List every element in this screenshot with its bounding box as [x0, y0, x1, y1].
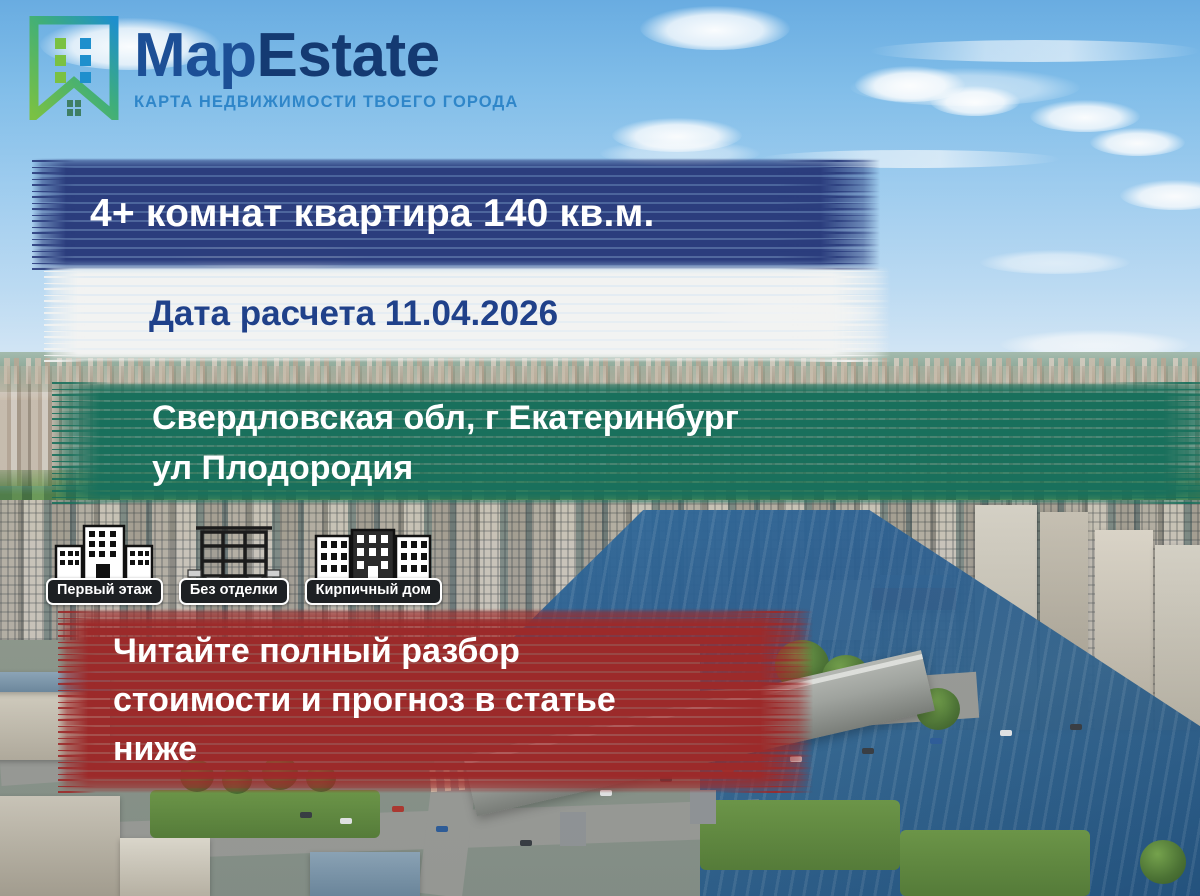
badge-brick-house[interactable]: Кирпичный дом	[305, 522, 442, 605]
car	[1070, 724, 1082, 730]
badge-label: Без отделки	[179, 578, 289, 605]
unfinished-construction-icon	[186, 522, 282, 584]
bridge-pier	[690, 790, 716, 824]
cta-line-2: стоимости и прогноз в статье	[113, 677, 813, 724]
cta-line-3: ниже	[113, 726, 813, 773]
car	[340, 818, 352, 824]
car	[862, 748, 874, 754]
address-line-street: ул Плодородия	[152, 446, 1200, 490]
kiosk	[310, 852, 420, 896]
feature-badges: Первый этаж Без отделки	[46, 522, 442, 605]
brand-wordmark: MapEstate	[134, 25, 518, 87]
car	[1000, 730, 1012, 736]
city-building	[0, 796, 120, 896]
car	[930, 738, 942, 744]
car	[436, 826, 448, 832]
lawn	[150, 790, 380, 838]
brand-tagline: КАРТА НЕДВИЖИМОСТИ ТВОЕГО ГОРОДА	[134, 94, 518, 111]
lawn	[900, 830, 1090, 896]
badge-no-finishing[interactable]: Без отделки	[179, 522, 289, 605]
title-banner: 4+ комнат квартира 140 кв.м.	[32, 158, 880, 270]
badge-label: Кирпичный дом	[305, 578, 442, 605]
poster-canvas: MapEstate КАРТА НЕДВИЖИМОСТИ ТВОЕГО ГОРО…	[0, 0, 1200, 896]
date-banner: Дата расчета 11.04.2026	[44, 266, 891, 362]
car	[300, 812, 312, 818]
address-line-region-city: Свердловская обл, г Екатеринбург	[152, 396, 1200, 440]
cta-banner[interactable]: Читайте полный разбор стоимости и прогно…	[58, 608, 813, 793]
brand-name-map: Map	[134, 21, 257, 90]
brand-name-estate: Estate	[257, 21, 440, 90]
bridge-pier	[560, 812, 586, 846]
address-banner: Свердловская обл, г Екатеринбург ул Плод…	[52, 382, 1200, 504]
car	[392, 806, 404, 812]
brand-wordmark-block: MapEstate КАРТА НЕДВИЖИМОСТИ ТВОЕГО ГОРО…	[134, 25, 518, 111]
tree-icon	[1140, 840, 1186, 884]
calculation-date-text: Дата расчета 11.04.2026	[149, 294, 891, 334]
cta-line-1: Читайте полный разбор	[113, 628, 813, 675]
badge-first-floor[interactable]: Первый этаж	[46, 522, 163, 605]
bookmark-building-icon	[28, 16, 120, 120]
lawn	[700, 800, 900, 870]
car	[520, 840, 532, 846]
brick-building-icon	[314, 522, 432, 584]
apartment-building-icon	[54, 522, 154, 584]
badge-label: Первый этаж	[46, 578, 163, 605]
brand-logo[interactable]: MapEstate КАРТА НЕДВИЖИМОСТИ ТВОЕГО ГОРО…	[28, 16, 518, 120]
city-building	[120, 838, 210, 896]
title-text: 4+ комнат квартира 140 кв.м.	[90, 192, 880, 236]
